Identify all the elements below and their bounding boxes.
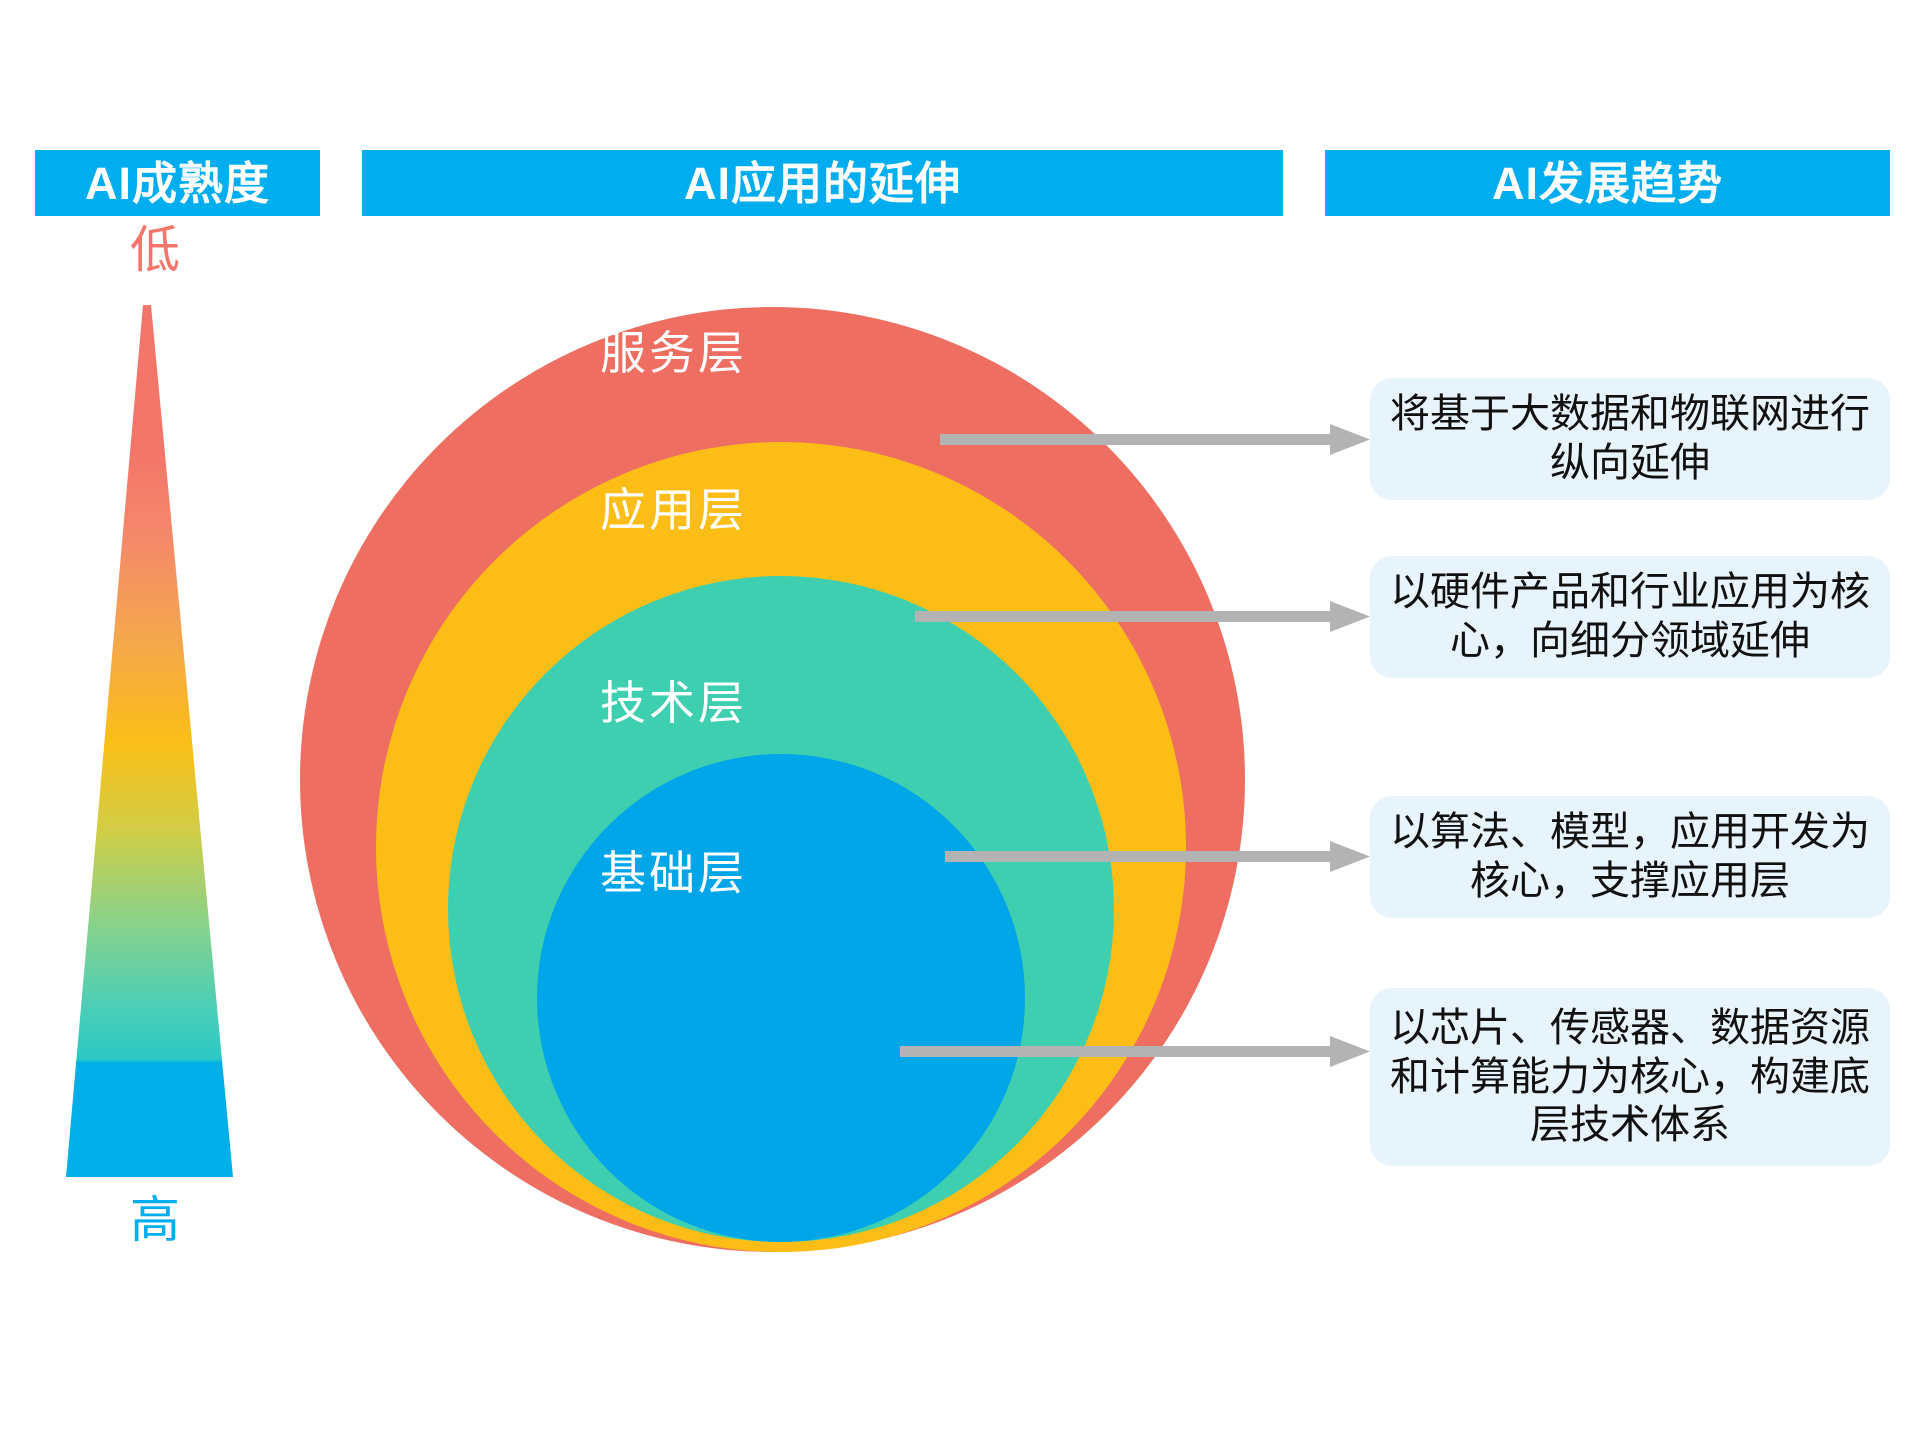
- trend-callout-technology-text: 以算法、模型，应用开发为核心，支撑应用层: [1388, 808, 1872, 906]
- maturity-cone-shape: [20, 290, 290, 1190]
- maturity-low-label: 低: [20, 225, 290, 275]
- header-ai-development-trend: AI发展趋势: [1325, 150, 1890, 216]
- layer-circle-foundation[interactable]: [537, 754, 1025, 1242]
- layer-label-technology: 技术层: [600, 680, 747, 726]
- diagram-canvas: AI成熟度 AI应用的延伸 AI发展趋势: [0, 0, 1920, 1440]
- layer-label-service: 服务层: [600, 330, 747, 376]
- trend-callout-foundation-text: 以芯片、传感器、数据资源和计算能力为核心，构建底层技术体系: [1388, 1004, 1872, 1150]
- maturity-high-label: 高: [20, 1195, 290, 1245]
- layer-label-foundation: 基础层: [600, 850, 747, 896]
- trend-callout-application[interactable]: 以硬件产品和行业应用为核心，向细分领域延伸: [1370, 556, 1890, 678]
- layer-label-application: 应用层: [600, 487, 747, 533]
- header-ai-application-extension-label: AI应用的延伸: [684, 161, 961, 206]
- header-ai-application-extension: AI应用的延伸: [362, 150, 1283, 216]
- trend-callout-service[interactable]: 将基于大数据和物联网进行纵向延伸: [1370, 378, 1890, 500]
- header-ai-maturity-label: AI成熟度: [85, 161, 270, 206]
- maturity-cone: [20, 290, 290, 1190]
- header-ai-development-trend-label: AI发展趋势: [1492, 161, 1723, 206]
- trend-callout-technology[interactable]: 以算法、模型，应用开发为核心，支撑应用层: [1370, 796, 1890, 918]
- header-ai-maturity: AI成熟度: [35, 150, 320, 216]
- concentric-layers: 服务层 应用层 技术层 基础层: [300, 280, 1290, 1260]
- trend-callout-service-text: 将基于大数据和物联网进行纵向延伸: [1388, 390, 1872, 488]
- trend-callout-foundation[interactable]: 以芯片、传感器、数据资源和计算能力为核心，构建底层技术体系: [1370, 988, 1890, 1166]
- trend-callout-application-text: 以硬件产品和行业应用为核心，向细分领域延伸: [1388, 568, 1872, 666]
